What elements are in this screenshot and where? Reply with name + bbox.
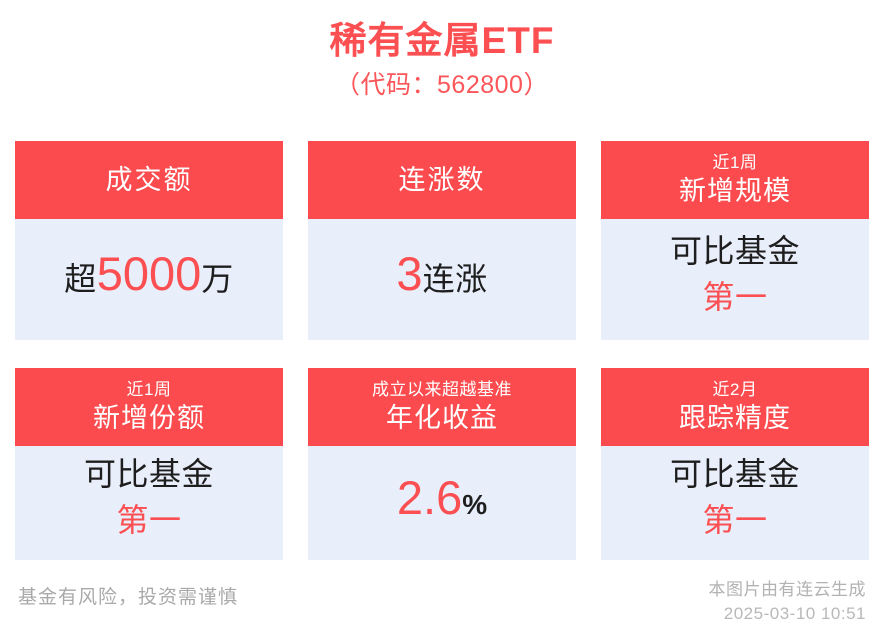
metric-value-line: 3连涨 — [396, 246, 487, 301]
metric-card-header: 成立以来超越基准年化收益 — [308, 368, 576, 446]
credit-timestamp: 2025-03-10 10:51 — [709, 602, 867, 626]
metric-value-line: 第一 — [702, 272, 767, 318]
metric-card-title: 成交额 — [106, 164, 193, 196]
metric-card-header: 成交额 — [15, 141, 283, 219]
metric-card: 成交额超5000万 — [15, 141, 283, 340]
metric-value-segment: 第一 — [116, 495, 181, 541]
metric-card: 连涨数3连涨 — [308, 141, 576, 340]
metric-value-segment: 第一 — [702, 495, 767, 541]
title-block: 稀有金属ETF （代码：562800） — [0, 0, 884, 105]
metric-value-segment: 可比基金 — [670, 449, 800, 495]
credit-source: 本图片由有连云生成 — [709, 578, 867, 602]
metric-card-period: 近1周 — [713, 152, 758, 175]
metric-card: 近1周新增份额可比基金第一 — [15, 368, 283, 560]
risk-disclaimer: 基金有风险，投资需谨慎 — [18, 570, 238, 609]
metric-card: 近1周新增规模可比基金第一 — [601, 141, 869, 340]
generation-credit: 本图片由有连云生成 2025-03-10 10:51 — [709, 570, 867, 626]
metric-card-title: 年化收益 — [386, 402, 498, 434]
metric-card: 成立以来超越基准年化收益2.6% — [308, 368, 576, 560]
metric-value-segment: 2.6 — [397, 470, 462, 525]
metric-card-body: 可比基金第一 — [601, 219, 869, 340]
metric-value-segment: 超 — [64, 254, 97, 300]
metric-card-grid: 成交额超5000万连涨数3连涨近1周新增规模可比基金第一近1周新增份额可比基金第… — [15, 141, 870, 560]
metric-card-header: 近1周新增规模 — [601, 141, 869, 219]
metric-card-body: 2.6% — [308, 446, 576, 560]
metric-card-period: 近1周 — [127, 379, 172, 402]
metric-card-period: 成立以来超越基准 — [372, 379, 512, 402]
metric-value-segment: 第一 — [702, 272, 767, 318]
metric-value-segment: 5000 — [97, 246, 202, 301]
metric-value-line: 第一 — [116, 495, 181, 541]
fund-code: （代码：562800） — [0, 67, 884, 105]
metric-card-title: 连涨数 — [399, 164, 486, 196]
metric-card-title: 新增规模 — [679, 175, 791, 207]
footer: 基金有风险，投资需谨慎 本图片由有连云生成 2025-03-10 10:51 — [0, 570, 884, 632]
metric-value-segment: 万 — [201, 254, 234, 300]
metric-value-line: 可比基金 — [84, 449, 214, 495]
metric-value-segment: 连涨 — [423, 254, 488, 300]
metric-card-header: 连涨数 — [308, 141, 576, 219]
metric-card-body: 超5000万 — [15, 219, 283, 340]
metric-card-title: 新增份额 — [93, 402, 205, 434]
metric-value-line: 超5000万 — [64, 246, 234, 301]
metric-value-segment: 可比基金 — [84, 449, 214, 495]
metric-value-line: 可比基金 — [670, 226, 800, 272]
metric-card-body: 3连涨 — [308, 219, 576, 340]
metric-card-title: 跟踪精度 — [679, 402, 791, 434]
metric-value-segment: % — [462, 489, 487, 521]
metric-value-line: 第一 — [702, 495, 767, 541]
metric-value-line: 可比基金 — [670, 449, 800, 495]
metric-value-line: 2.6% — [397, 470, 487, 525]
metric-card-body: 可比基金第一 — [15, 446, 283, 560]
metric-value-segment: 3 — [396, 246, 422, 301]
metric-card-header: 近2月跟踪精度 — [601, 368, 869, 446]
metric-card: 近2月跟踪精度可比基金第一 — [601, 368, 869, 560]
metric-card-period: 近2月 — [713, 379, 758, 402]
page-title: 稀有金属ETF — [0, 18, 884, 63]
metric-value-segment: 可比基金 — [670, 226, 800, 272]
metric-card-body: 可比基金第一 — [601, 446, 869, 560]
metric-card-header: 近1周新增份额 — [15, 368, 283, 446]
